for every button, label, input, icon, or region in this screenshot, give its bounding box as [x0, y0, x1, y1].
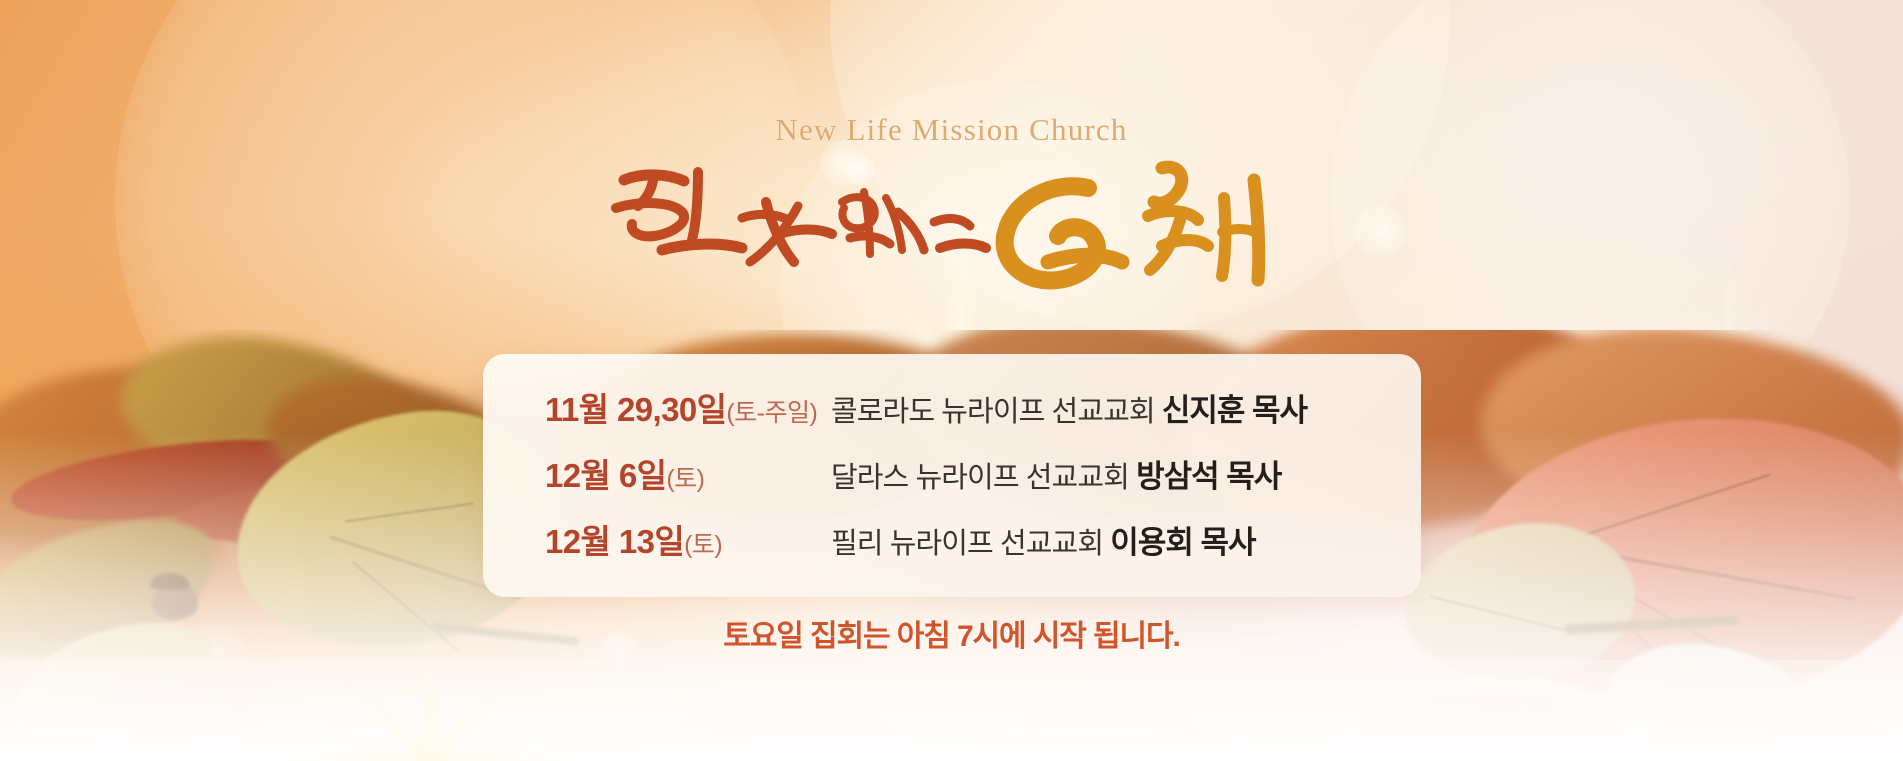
schedule-date: 12월 6일(토) [545, 449, 831, 497]
schedule-date-main: 12월 6일 [545, 457, 666, 494]
schedule-rows: 11월 29,30일(토-주일) 콜로라도 뉴라이프 선교교회 신지훈 목사 1… [545, 383, 1391, 581]
schedule-date-paren: (토-주일) [726, 399, 817, 427]
schedule-row: 12월 13일(토) 필리 뉴라이프 선교교회 이용회 목사 [545, 515, 1391, 581]
schedule-date: 12월 13일(토) [545, 515, 831, 563]
schedule-church: 콜로라도 뉴라이프 선교교회 [831, 396, 1155, 428]
schedule-row: 11월 29,30일(토-주일) 콜로라도 뉴라이프 선교교회 신지훈 목사 [545, 383, 1391, 449]
schedule-description: 콜로라도 뉴라이프 선교교회 신지훈 목사 [831, 385, 1307, 430]
schedule-description: 필리 뉴라이프 선교교회 이용회 목사 [831, 517, 1256, 562]
schedule-row: 12월 6일(토) 달라스 뉴라이프 선교교회 방삼석 목사 [545, 449, 1391, 515]
schedule-date-paren: (토) [684, 531, 722, 559]
church-name-eyebrow: New Life Mission Church [0, 112, 1903, 148]
schedule-date: 11월 29,30일(토-주일) [545, 383, 831, 431]
banner-content: New Life Mission Church [0, 0, 1903, 761]
start-time-note: 토요일 집회는 아침 7시에 시작 됩니다. [0, 611, 1903, 655]
event-banner: New Life Mission Church [0, 0, 1903, 761]
calligraphy-wordmark [602, 150, 1302, 290]
schedule-description: 달라스 뉴라이프 선교교회 방삼석 목사 [831, 451, 1281, 496]
schedule-speaker: 신지훈 목사 [1162, 393, 1307, 428]
schedule-church: 달라스 뉴라이프 선교교회 [831, 462, 1129, 494]
schedule-church: 필리 뉴라이프 선교교회 [831, 528, 1103, 560]
schedule-card: 11월 29,30일(토-주일) 콜로라도 뉴라이프 선교교회 신지훈 목사 1… [483, 354, 1421, 597]
schedule-date-main: 11월 29,30일 [545, 391, 726, 428]
schedule-date-main: 12월 13일 [545, 523, 684, 560]
schedule-speaker: 이용회 목사 [1110, 525, 1255, 560]
schedule-speaker: 방삼석 목사 [1136, 459, 1281, 494]
schedule-date-paren: (토) [666, 465, 704, 493]
